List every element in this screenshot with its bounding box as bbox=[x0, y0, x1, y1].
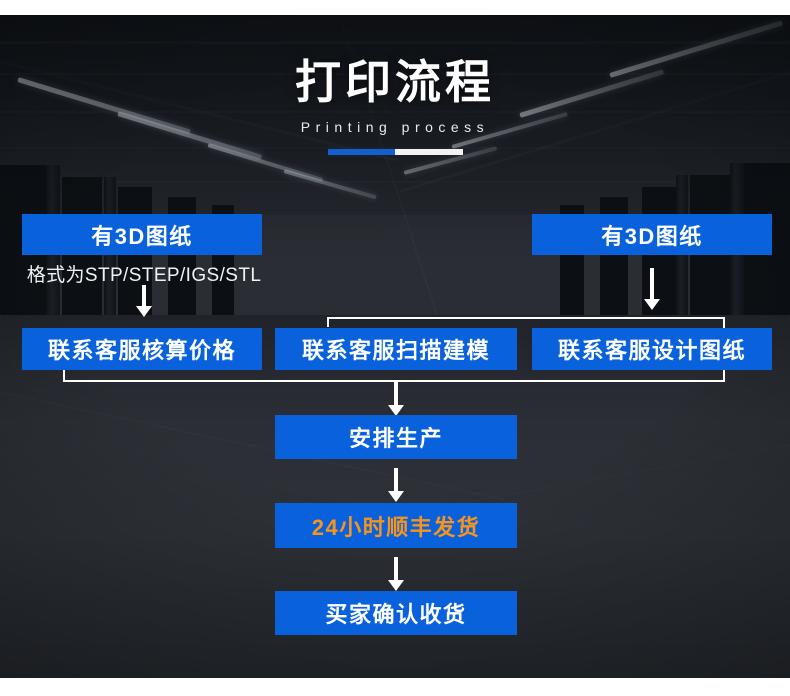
flow-box-24h-sf-shipping[interactable]: 24小时顺丰发货 bbox=[275, 503, 517, 548]
title-rule-white-segment bbox=[395, 149, 463, 155]
arrow-down-icon bbox=[136, 285, 152, 317]
arrow-down-icon bbox=[388, 557, 404, 591]
connector-top-bracket-horizontal bbox=[327, 317, 725, 319]
flow-box-buyer-confirm-receipt[interactable]: 买家确认收货 bbox=[275, 591, 517, 635]
format-note: 格式为STP/STEP/IGS/STL bbox=[24, 260, 264, 287]
page-subtitle: Printing process bbox=[0, 119, 790, 135]
flow-box-has-3d-drawing-left[interactable]: 有3D图纸 bbox=[22, 214, 262, 255]
page-title: 打印流程 bbox=[0, 55, 790, 109]
title-rule-blue-segment bbox=[328, 149, 395, 155]
arrow-down-icon bbox=[388, 468, 404, 502]
arrow-down-icon bbox=[644, 268, 660, 312]
connector-top-bracket-left-stub bbox=[327, 317, 329, 327]
flow-box-arrange-production[interactable]: 安排生产 bbox=[275, 415, 517, 459]
arrow-down-icon bbox=[388, 382, 404, 416]
flow-box-has-3d-drawing-right[interactable]: 有3D图纸 bbox=[532, 214, 772, 255]
infographic-page: 打印流程 Printing process 有3D图纸 有3D图纸 格式为STP… bbox=[0, 0, 790, 696]
title-rule bbox=[328, 149, 463, 155]
flow-box-contact-quote[interactable]: 联系客服核算价格 bbox=[22, 328, 262, 370]
page-header: 打印流程 Printing process bbox=[0, 55, 790, 155]
flow-box-contact-design-drawing[interactable]: 联系客服设计图纸 bbox=[532, 328, 772, 370]
flow-box-contact-scan-model[interactable]: 联系客服扫描建模 bbox=[275, 328, 517, 370]
